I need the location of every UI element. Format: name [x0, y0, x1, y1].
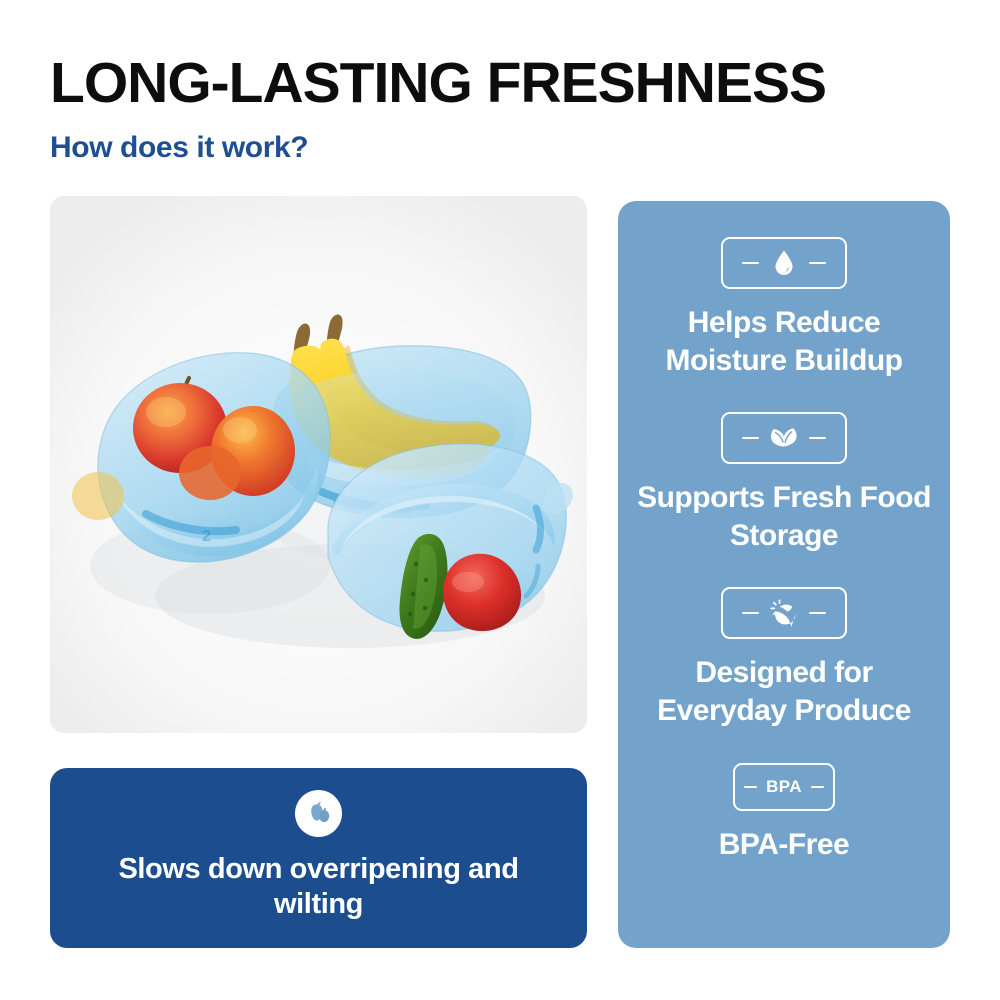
leaves-badge — [721, 412, 847, 464]
badge-dash-right — [809, 612, 826, 614]
water-drop-badge — [721, 237, 847, 289]
feature-item-produce: Designed for Everyday Produce — [628, 587, 940, 730]
badge-dash-left — [742, 612, 759, 614]
page-subtitle: How does it work? — [50, 133, 950, 163]
badge-dash-right — [811, 786, 824, 788]
badge-dash-left — [744, 786, 757, 788]
bpa-badge: BPA — [733, 763, 835, 811]
header: LONG-LASTING FRESHNESS How does it work? — [50, 55, 950, 163]
badge-dash-right — [809, 437, 826, 439]
badge-dash-right — [809, 262, 826, 264]
feature-panel: Helps Reduce Moisture Buildup Supports F… — [618, 201, 950, 948]
water-drop-icon — [768, 246, 800, 280]
pear-apple-icon — [295, 790, 342, 837]
feature-label-bpa: BPA-Free — [719, 826, 849, 864]
svg-text:2: 2 — [202, 528, 211, 545]
highlight-text: Slows down overripening and wilting — [84, 852, 554, 923]
feature-item-moisture: Helps Reduce Moisture Buildup — [628, 237, 940, 380]
fruit-sparkle-icon — [768, 596, 800, 630]
feature-label-produce: Designed for Everyday Produce — [634, 654, 934, 730]
badge-dash-left — [742, 262, 759, 264]
fruit-sparkle-badge — [721, 587, 847, 639]
feature-item-bpa: BPA BPA-Free — [628, 763, 940, 864]
badge-dash-left — [742, 437, 759, 439]
product-photo-illustration: 2 — [50, 196, 587, 733]
page-title: LONG-LASTING FRESHNESS — [50, 55, 950, 112]
leaves-icon — [768, 421, 800, 455]
product-photo: 2 — [50, 196, 587, 733]
feature-label-storage: Supports Fresh Food Storage — [634, 479, 934, 555]
bpa-badge-text: BPA — [766, 778, 802, 795]
feature-item-storage: Supports Fresh Food Storage — [628, 412, 940, 555]
feature-label-moisture: Helps Reduce Moisture Buildup — [634, 304, 934, 380]
highlight-card: Slows down overripening and wilting — [50, 768, 587, 948]
